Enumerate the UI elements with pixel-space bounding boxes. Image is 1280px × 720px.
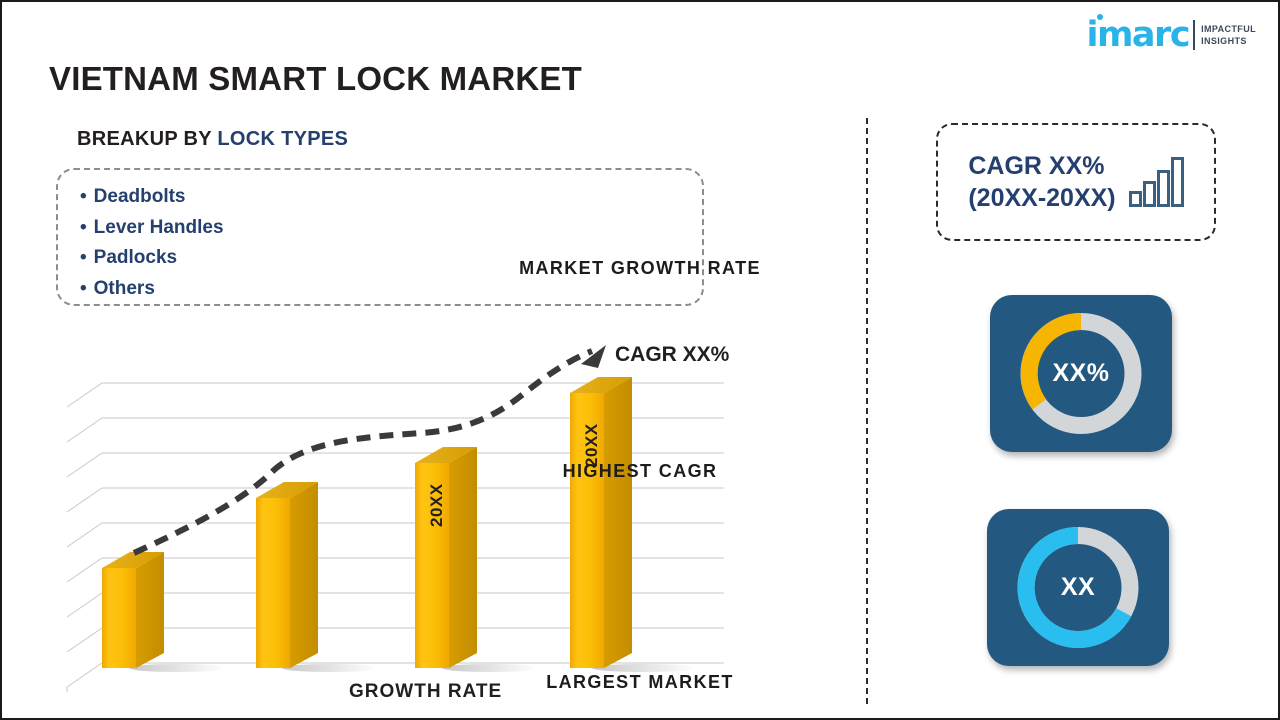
list-item-label: Lever Handles <box>94 217 224 238</box>
cagr-value-line2: (20XX-20XX) <box>968 182 1115 214</box>
breakup-heading-accent: LOCK TYPES <box>217 128 348 150</box>
breakup-heading: BREAKUP BY LOCK TYPES <box>77 128 348 151</box>
chart-bar <box>570 377 632 668</box>
logo-text: imarc <box>1086 15 1189 55</box>
breakup-heading-label: BREAKUP BY <box>77 128 217 150</box>
caption-market-growth-rate: MARKET GROWTH RATE <box>2 258 1278 279</box>
largest-market-tile: XX <box>987 509 1169 666</box>
market-growth-rate-box: CAGR XX% (20XX-20XX) <box>936 123 1216 241</box>
arrow-head-icon <box>581 345 606 368</box>
highest-cagr-value: XX% <box>990 359 1172 388</box>
bullet-icon: • <box>80 186 87 207</box>
largest-market-value: XX <box>987 573 1169 602</box>
lock-types-box: •Deadbolts •Lever Handles •Padlocks •Oth… <box>56 168 704 306</box>
page-title: VIETNAM SMART LOCK MARKET <box>49 60 582 98</box>
list-item-label: Others <box>94 278 155 299</box>
list-item: •Lever Handles <box>80 213 702 244</box>
bullet-icon: • <box>80 217 87 238</box>
lock-types-list: •Deadbolts •Lever Handles •Padlocks •Oth… <box>58 170 702 304</box>
chart-bar <box>256 482 318 668</box>
cagr-value-line1: CAGR XX% <box>968 150 1115 182</box>
logo-divider <box>1193 20 1195 50</box>
logo-wordmark: imarc <box>1086 18 1189 52</box>
chart-bar-shadows <box>129 664 696 672</box>
bullet-icon: • <box>80 278 87 299</box>
list-item-label: Deadbolts <box>94 186 186 207</box>
logo-tagline: IMPACTFUL INSIGHTS <box>1201 23 1256 47</box>
bar-chart-icon <box>1128 152 1184 213</box>
caption-highest-cagr: HIGHEST CAGR <box>2 461 1278 482</box>
section-divider <box>866 118 868 704</box>
chart-svg <box>62 337 762 712</box>
caption-largest-market: LARGEST MARKET <box>2 672 1278 693</box>
imarc-logo: imarc IMPACTFUL INSIGHTS <box>1086 16 1256 54</box>
cagr-value: CAGR XX% (20XX-20XX) <box>968 150 1115 214</box>
chart-trend-line <box>134 345 606 553</box>
logo-tagline-line1: IMPACTFUL <box>1201 23 1256 35</box>
chart-cagr-callout: CAGR XX% <box>615 343 729 367</box>
list-item: •Deadbolts <box>80 182 702 213</box>
logo-tagline-line2: INSIGHTS <box>1201 35 1256 47</box>
highest-cagr-tile: XX% <box>990 295 1172 452</box>
bar-label-year-3: 20XX <box>427 483 447 527</box>
chart-bar <box>102 552 164 668</box>
infographic-slide: imarc IMPACTFUL INSIGHTS VIETNAM SMART L… <box>0 0 1280 720</box>
growth-rate-chart: 20XX 20XX <box>62 337 762 712</box>
